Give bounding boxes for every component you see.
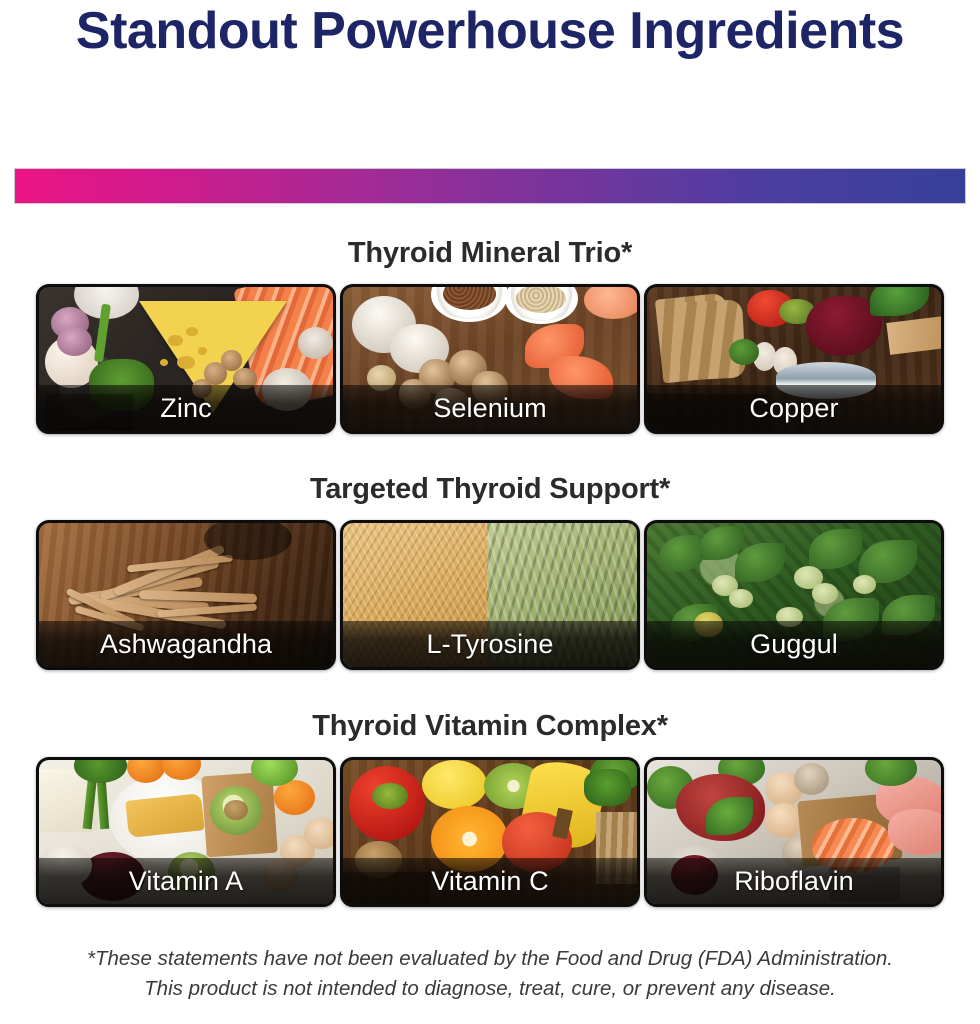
ingredient-card-copper[interactable]: Copper <box>644 284 944 434</box>
card-label-text: Ashwagandha <box>100 629 272 659</box>
section-header: Targeted Thyroid Support* <box>0 472 980 506</box>
ingredient-card-selenium[interactable]: Selenium <box>340 284 640 434</box>
disclaimer-line-2: This product is not intended to diagnose… <box>6 974 974 1004</box>
card-label: Riboflavin <box>647 858 941 904</box>
card-label: Selenium <box>343 385 637 431</box>
card-label-text: L-Tyrosine <box>426 629 553 659</box>
section-header: Thyroid Mineral Trio* <box>0 236 980 270</box>
card-label-text: Vitamin C <box>431 866 548 896</box>
section-targeted-thyroid-support: Targeted Thyroid Support* <box>0 472 980 670</box>
section-header: Thyroid Vitamin Complex* <box>0 709 980 743</box>
card-label: Vitamin C <box>343 858 637 904</box>
ingredient-card-vitamin-a[interactable]: Vitamin A <box>36 757 336 907</box>
ingredient-card-riboflavin[interactable]: Riboflavin <box>644 757 944 907</box>
section-thyroid-mineral-trio: Thyroid Mineral Trio* <box>0 236 980 434</box>
ingredient-card-vitamin-c[interactable]: Vitamin C <box>340 757 640 907</box>
card-row: Zinc <box>36 284 944 434</box>
ingredient-card-zinc[interactable]: Zinc <box>36 284 336 434</box>
card-label-text: Zinc <box>160 393 211 423</box>
gradient-divider-bar <box>14 168 966 204</box>
page-title: Standout Powerhouse Ingredients <box>0 0 980 60</box>
card-label-text: Copper <box>749 393 838 423</box>
card-label: Zinc <box>39 385 333 431</box>
section-thyroid-vitamin-complex: Thyroid Vitamin Complex* <box>0 709 980 907</box>
card-row: Vitamin A <box>36 757 944 907</box>
ingredient-card-ashwagandha[interactable]: Ashwagandha <box>36 520 336 670</box>
card-label: Vitamin A <box>39 858 333 904</box>
card-label: Guggul <box>647 621 941 667</box>
card-label-text: Selenium <box>433 393 546 423</box>
disclaimer-line-1: *These statements have not been evaluate… <box>6 944 974 974</box>
ingredient-card-guggul[interactable]: Guggul <box>644 520 944 670</box>
card-label: L-Tyrosine <box>343 621 637 667</box>
fda-disclaimer: *These statements have not been evaluate… <box>0 944 980 1004</box>
card-label: Ashwagandha <box>39 621 333 667</box>
card-label-text: Vitamin A <box>129 866 243 896</box>
card-row: Ashwagandha L-Tyrosine <box>36 520 944 670</box>
card-label-text: Guggul <box>750 629 838 659</box>
card-label: Copper <box>647 385 941 431</box>
card-label-text: Riboflavin <box>734 866 854 896</box>
infographic-page: Standout Powerhouse Ingredients Thyroid … <box>0 0 980 1024</box>
ingredient-card-l-tyrosine[interactable]: L-Tyrosine <box>340 520 640 670</box>
